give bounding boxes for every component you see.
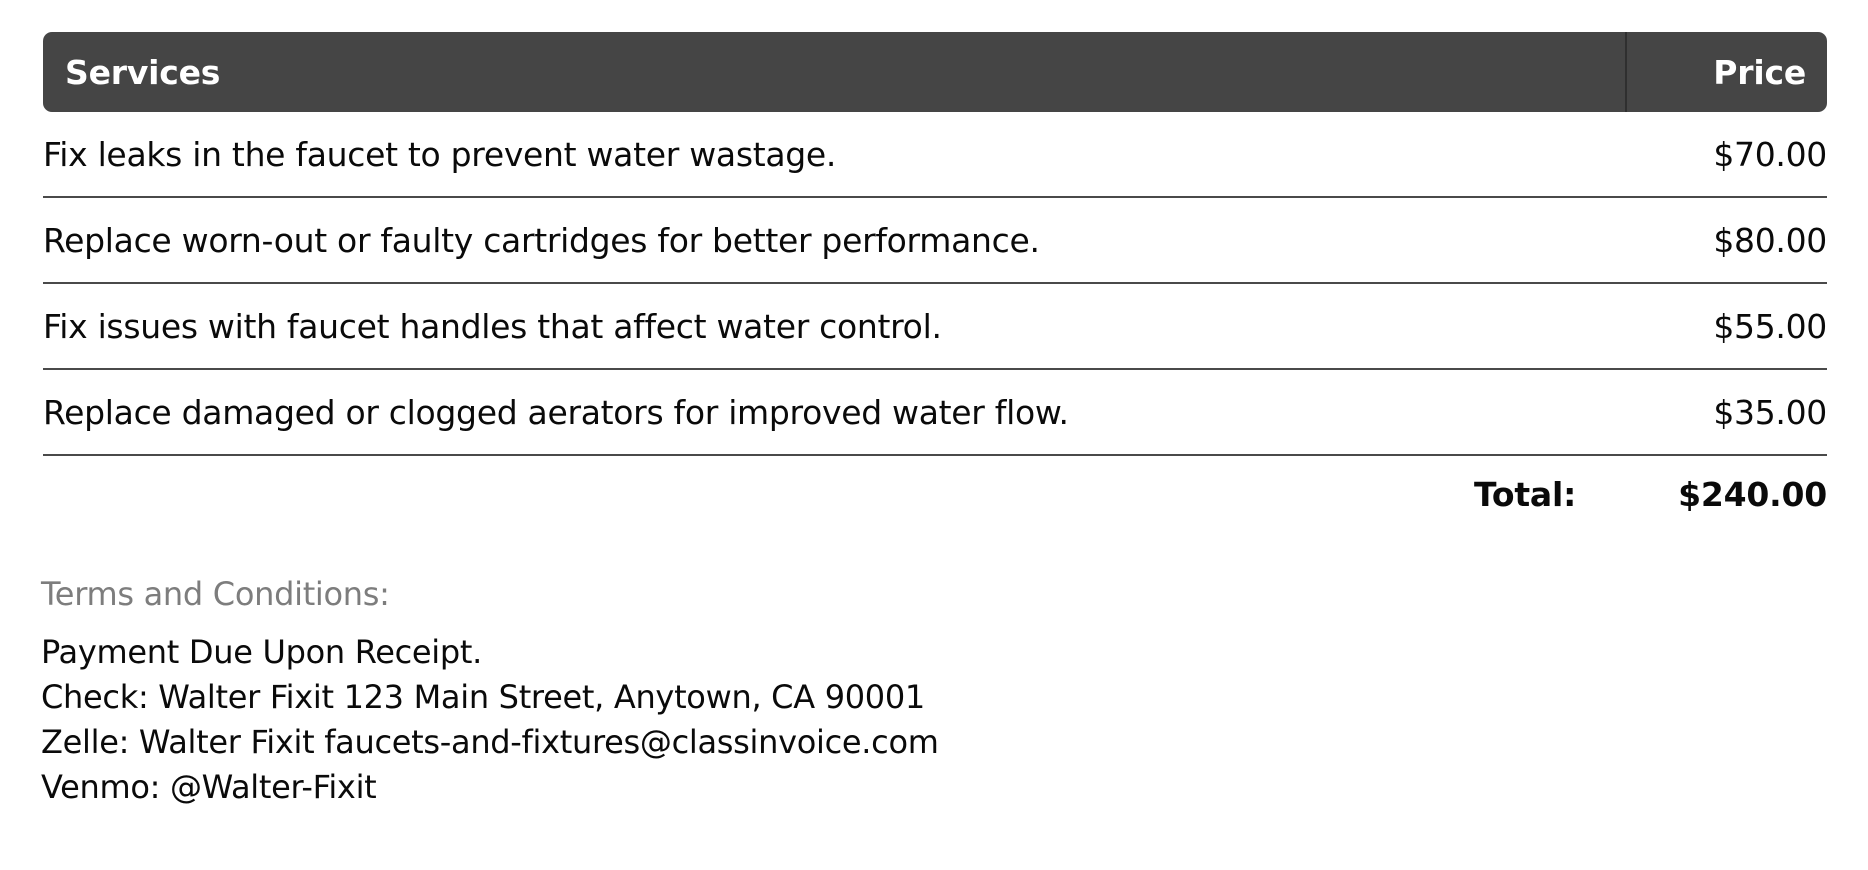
total-row: Total: $240.00 (43, 456, 1827, 532)
service-description: Fix issues with faucet handles that affe… (43, 310, 1713, 343)
terms-line-venmo: Venmo: @Walter-Fixit (41, 765, 1541, 810)
service-price: $80.00 (1713, 224, 1827, 257)
column-header-price: Price (1627, 56, 1827, 89)
table-body: Fix leaks in the faucet to prevent water… (43, 112, 1827, 456)
service-description: Replace damaged or clogged aerators for … (43, 396, 1713, 429)
service-price: $55.00 (1713, 310, 1827, 343)
terms-line-payment: Payment Due Upon Receipt. (41, 630, 1541, 675)
terms-title: Terms and Conditions: (41, 578, 1541, 610)
table-row: Replace worn-out or faulty cartridges fo… (43, 198, 1827, 284)
terms-and-conditions-section: Terms and Conditions: Payment Due Upon R… (41, 578, 1541, 810)
service-description: Fix leaks in the faucet to prevent water… (43, 138, 1713, 171)
services-price-table: Services Price Fix leaks in the faucet t… (43, 32, 1827, 532)
service-description: Replace worn-out or faulty cartridges fo… (43, 224, 1713, 257)
column-header-services: Services (43, 56, 1625, 89)
service-price: $35.00 (1713, 396, 1827, 429)
table-row: Fix issues with faucet handles that affe… (43, 284, 1827, 370)
service-price: $70.00 (1713, 138, 1827, 171)
total-label: Total: (1474, 478, 1576, 511)
table-header-row: Services Price (43, 32, 1827, 112)
table-row: Fix leaks in the faucet to prevent water… (43, 112, 1827, 198)
table-row: Replace damaged or clogged aerators for … (43, 370, 1827, 456)
terms-line-check: Check: Walter Fixit 123 Main Street, Any… (41, 675, 1541, 720)
invoice-page: Services Price Fix leaks in the faucet t… (0, 0, 1868, 870)
terms-line-zelle: Zelle: Walter Fixit faucets-and-fixtures… (41, 720, 1541, 765)
total-value: $240.00 (1678, 478, 1827, 511)
